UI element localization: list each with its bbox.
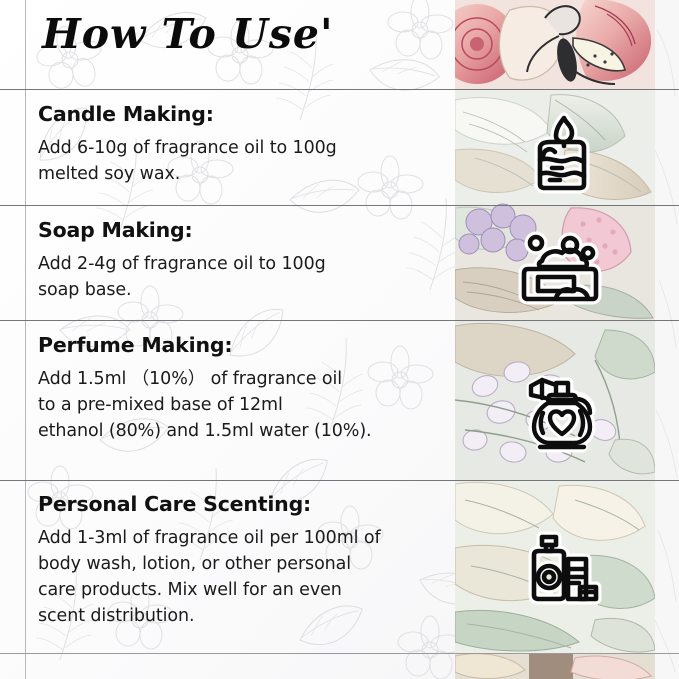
- section-heading: Personal Care Scenting:: [38, 492, 438, 516]
- divider-perfume: [0, 480, 679, 481]
- divider-personal-care: [0, 653, 679, 654]
- section-heading: Soap Making:: [38, 218, 438, 242]
- section-body: Add 1-3ml of fragrance oil per 100ml of …: [38, 525, 438, 629]
- section-candle: Candle Making: Add 6-10g of fragrance oi…: [38, 102, 438, 187]
- perfume-bottle-icon: [512, 363, 608, 459]
- section-soap: Soap Making: Add 2-4g of fragrance oil t…: [38, 218, 438, 303]
- section-body: Add 2-4g of fragrance oil to 100g soap b…: [38, 251, 438, 303]
- divider-candle: [0, 205, 679, 206]
- section-heading: Candle Making:: [38, 102, 438, 126]
- right-margin-texture: [655, 0, 679, 679]
- page-title: How To Use': [42, 10, 334, 58]
- section-heading: Perfume Making:: [38, 333, 438, 357]
- candle-icon: [512, 106, 608, 202]
- how-to-use-infographic: How To Use' Candle Making: Add 6-10g of …: [0, 0, 679, 679]
- section-personal-care: Personal Care Scenting: Add 1-3ml of fra…: [38, 492, 438, 629]
- left-vertical-rule: [25, 0, 26, 679]
- section-perfume: Perfume Making: Add 1.5ml （10%） of fragr…: [38, 333, 438, 444]
- section-body: Add 1.5ml （10%） of fragrance oil to a pr…: [38, 366, 438, 444]
- personal-care-products-icon: [512, 515, 608, 611]
- section-body: Add 6-10g of fragrance oil to 100g melte…: [38, 135, 438, 187]
- divider-title: [0, 89, 679, 90]
- soap-bar-icon: [512, 225, 608, 321]
